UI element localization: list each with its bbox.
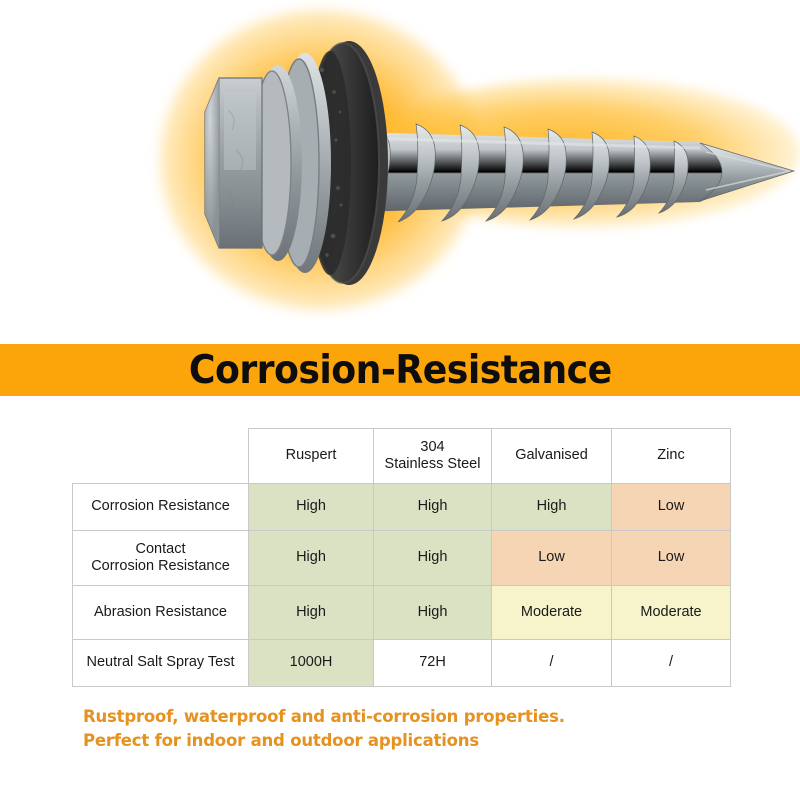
cell-corrosion-resistance-zinc: Low <box>612 484 731 531</box>
section-title-banner: Corrosion-Resistance <box>0 344 800 396</box>
cell-contact-corrosion-zinc: Low <box>612 531 731 586</box>
cell-corrosion-resistance-304: High <box>374 484 492 531</box>
cell-abrasion-zinc: Moderate <box>612 586 731 640</box>
column-header-ruspert: Ruspert <box>249 429 374 484</box>
row-label-contact-line1: Contact <box>136 541 186 557</box>
cell-corrosion-resistance-galvanised: High <box>492 484 612 531</box>
cell-salt-spray-304: 72H <box>374 640 492 687</box>
row-label-neutral-salt-spray-test: Neutral Salt Spray Test <box>73 640 249 687</box>
cell-abrasion-ruspert: High <box>249 586 374 640</box>
threaded-shaft <box>354 124 794 222</box>
tagline-line-2: Perfect for indoor and outdoor applicati… <box>83 729 723 753</box>
page-title: Corrosion-Resistance <box>189 351 612 390</box>
corrosion-comparison-table: Ruspert 304 Stainless Steel Galvanised Z… <box>72 428 731 687</box>
column-header-304-stainless-steel: 304 Stainless Steel <box>374 429 492 484</box>
product-hero-image <box>0 0 800 344</box>
row-label-contact-line2: Corrosion Resistance <box>91 558 230 574</box>
tagline-line-1: Rustproof, waterproof and anti-corrosion… <box>83 705 723 729</box>
table-corner-blank <box>73 429 249 484</box>
row-label-contact-corrosion-resistance: Contact Corrosion Resistance <box>73 531 249 586</box>
table-row-contact-corrosion-resistance: Contact Corrosion Resistance High High L… <box>73 531 731 586</box>
table-row-corrosion-resistance: Corrosion Resistance High High High Low <box>73 484 731 531</box>
column-header-304-line1: 304 <box>420 439 444 455</box>
column-header-galvanised: Galvanised <box>492 429 612 484</box>
cell-abrasion-galvanised: Moderate <box>492 586 612 640</box>
cell-salt-spray-ruspert: 1000H <box>249 640 374 687</box>
cell-contact-corrosion-304: High <box>374 531 492 586</box>
column-header-304-line2: Stainless Steel <box>385 456 481 472</box>
cell-contact-corrosion-galvanised: Low <box>492 531 612 586</box>
cell-salt-spray-zinc: / <box>612 640 731 687</box>
marketing-tagline: Rustproof, waterproof and anti-corrosion… <box>83 705 723 753</box>
table-row-neutral-salt-spray-test: Neutral Salt Spray Test 1000H 72H / / <box>73 640 731 687</box>
cell-contact-corrosion-ruspert: High <box>249 531 374 586</box>
table-header-row: Ruspert 304 Stainless Steel Galvanised Z… <box>73 429 731 484</box>
column-header-zinc: Zinc <box>612 429 731 484</box>
cell-salt-spray-galvanised: / <box>492 640 612 687</box>
hex-head <box>205 78 262 248</box>
row-label-abrasion-resistance: Abrasion Resistance <box>73 586 249 640</box>
table-row-abrasion-resistance: Abrasion Resistance High High Moderate M… <box>73 586 731 640</box>
screw-illustration <box>0 0 800 344</box>
cell-abrasion-304: High <box>374 586 492 640</box>
row-label-corrosion-resistance: Corrosion Resistance <box>73 484 249 531</box>
cell-corrosion-resistance-ruspert: High <box>249 484 374 531</box>
